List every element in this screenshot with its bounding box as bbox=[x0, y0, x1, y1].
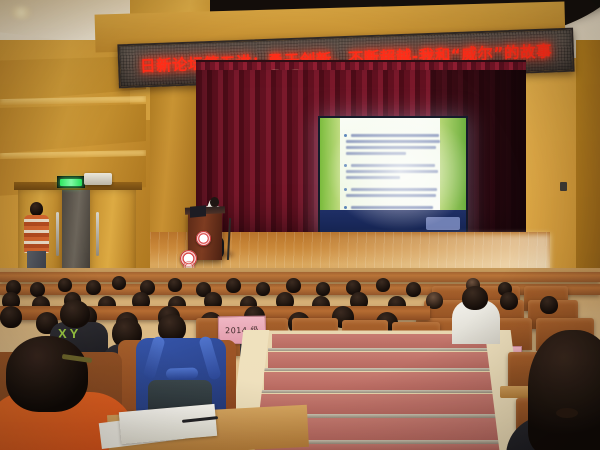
foreground-right-person-head bbox=[528, 330, 600, 450]
slide-bullet bbox=[344, 134, 347, 137]
slide-text-line bbox=[346, 152, 406, 155]
wall-outlet bbox=[560, 182, 567, 191]
door-opening[interactable] bbox=[62, 190, 90, 280]
stair-carpet bbox=[264, 372, 504, 390]
audience-head bbox=[226, 278, 241, 293]
stair-carpet bbox=[268, 352, 496, 368]
audience-head bbox=[256, 282, 270, 296]
foreground-person-head bbox=[6, 336, 88, 412]
hair-tie bbox=[556, 408, 578, 418]
podium-emblem bbox=[196, 231, 211, 246]
stair-nosing bbox=[258, 390, 510, 393]
slide-bullet bbox=[344, 188, 347, 191]
audience-head bbox=[30, 282, 45, 297]
audience-head bbox=[406, 282, 421, 297]
equipment-box bbox=[84, 173, 112, 185]
audience-head bbox=[376, 278, 390, 292]
slide-text-line bbox=[346, 176, 400, 179]
audience-head bbox=[0, 306, 22, 328]
slide-text-line bbox=[346, 170, 438, 173]
audience-head bbox=[168, 278, 182, 292]
audience-head bbox=[58, 278, 72, 292]
presenter-head bbox=[210, 197, 219, 207]
slide-bullet bbox=[344, 164, 347, 167]
slide-text-line bbox=[346, 140, 440, 143]
laptop bbox=[190, 205, 206, 217]
audience-head bbox=[112, 276, 126, 290]
audience-head bbox=[462, 286, 488, 310]
slide-bullet bbox=[344, 206, 347, 209]
projection-screen bbox=[318, 116, 468, 238]
slide-text-line bbox=[351, 188, 437, 191]
slide-text-line bbox=[351, 206, 433, 209]
audience-head bbox=[60, 300, 90, 328]
audience-head bbox=[286, 278, 301, 293]
audience-head bbox=[500, 292, 518, 310]
slide-text-line bbox=[351, 164, 435, 167]
ceiling-downlight bbox=[8, 6, 34, 19]
stair-nosing bbox=[268, 348, 494, 351]
exit-sign-glow bbox=[60, 179, 82, 186]
standing-person-torso bbox=[24, 215, 49, 253]
audience-head bbox=[86, 280, 101, 295]
slide-footer-badge bbox=[426, 217, 460, 230]
door-handle[interactable] bbox=[56, 212, 59, 256]
door-handle[interactable] bbox=[96, 212, 99, 256]
lecture-hall-photo: 日新论坛第五讲：勇于创新，不断超越-我和“威尔”的故事 bbox=[0, 0, 600, 450]
slide-text-line bbox=[351, 134, 439, 137]
slide-text-line bbox=[346, 194, 436, 197]
stair-nosing bbox=[264, 368, 502, 371]
slide-text-line bbox=[346, 146, 436, 149]
backpack-strap bbox=[166, 367, 198, 379]
audience-head bbox=[316, 282, 330, 296]
audience-head bbox=[540, 296, 558, 314]
exit-sign bbox=[57, 176, 85, 188]
standing-person-head bbox=[30, 202, 43, 216]
